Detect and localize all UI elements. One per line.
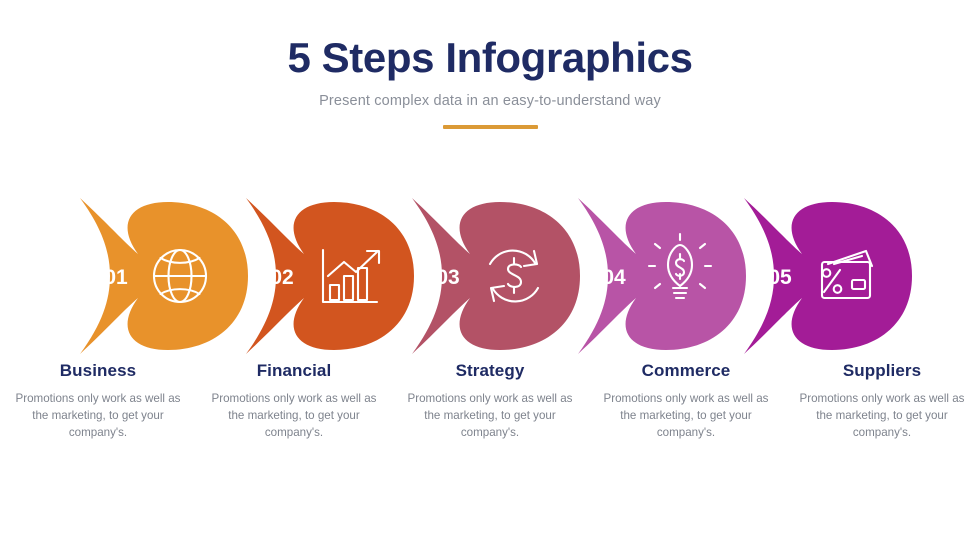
step-shape-3[interactable]: 03 — [412, 198, 580, 354]
step-shape-4[interactable]: 04 — [578, 198, 746, 354]
step-5-number: 05 — [768, 266, 792, 289]
caption-step-1: Business Promotions only work as well as… — [0, 361, 196, 441]
steps-diagram: 01 02 — [0, 196, 980, 356]
header: 5 Steps Infographics Present complex dat… — [0, 34, 980, 129]
caption-title-3: Strategy — [404, 361, 576, 381]
step-3-number: 03 — [436, 266, 459, 289]
step-2-number: 02 — [270, 266, 293, 289]
caption-desc-5: Promotions only work as well as the mark… — [796, 390, 968, 441]
caption-desc-3: Promotions only work as well as the mark… — [404, 390, 576, 441]
caption-step-3: Strategy Promotions only work as well as… — [392, 361, 588, 441]
caption-step-2: Financial Promotions only work as well a… — [196, 361, 392, 441]
caption-desc-4: Promotions only work as well as the mark… — [600, 390, 772, 441]
step-shape-2[interactable]: 02 — [246, 198, 414, 354]
step-1-number: 01 — [104, 266, 128, 289]
step-captions: Business Promotions only work as well as… — [0, 361, 980, 441]
caption-desc-2: Promotions only work as well as the mark… — [208, 390, 380, 441]
step-shape-1[interactable]: 01 — [80, 198, 248, 354]
caption-title-5: Suppliers — [796, 361, 968, 381]
step-shape-5[interactable]: 05 — [744, 198, 912, 354]
caption-title-1: Business — [12, 361, 184, 381]
caption-title-4: Commerce — [600, 361, 772, 381]
accent-divider — [443, 125, 538, 129]
page-title: 5 Steps Infographics — [0, 34, 980, 81]
caption-desc-1: Promotions only work as well as the mark… — [12, 390, 184, 441]
caption-step-4: Commerce Promotions only work as well as… — [588, 361, 784, 441]
step-4-number: 04 — [602, 266, 626, 289]
infographic-slide: 5 Steps Infographics Present complex dat… — [0, 0, 980, 551]
caption-title-2: Financial — [208, 361, 380, 381]
caption-step-5: Suppliers Promotions only work as well a… — [784, 361, 980, 441]
page-subtitle: Present complex data in an easy-to-under… — [0, 93, 980, 109]
